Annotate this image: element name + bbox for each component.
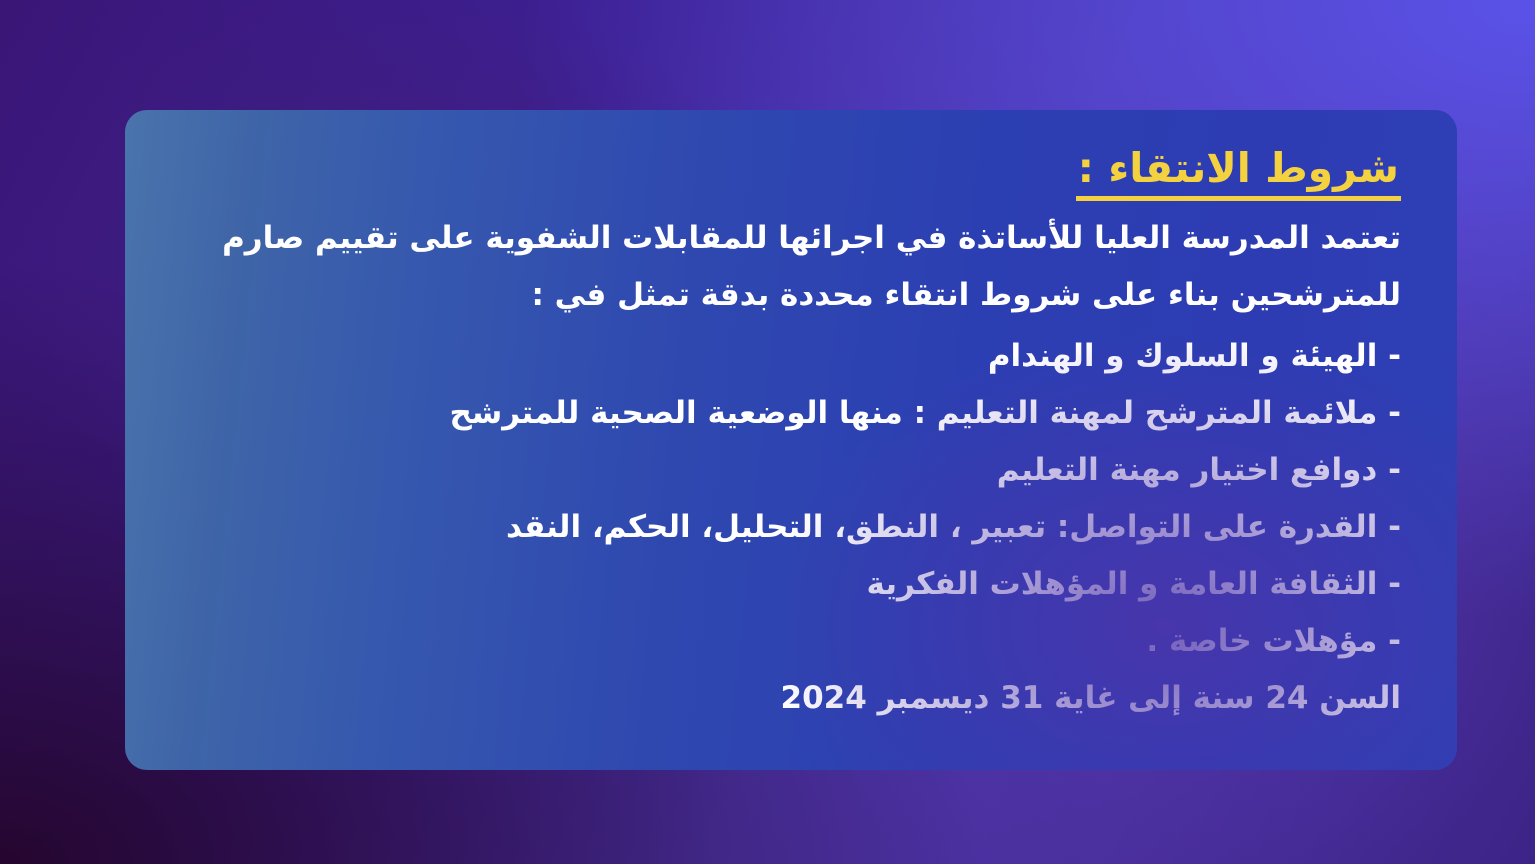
intro-paragraph: تعتمد المدرسة العليا للأساتذة في اجرائها… <box>182 210 1402 324</box>
list-item: - ملائمة المترشح لمهنة التعليم : منها ال… <box>182 385 1402 442</box>
list-item: - الهيئة و السلوك و الهندام <box>182 328 1402 385</box>
criteria-list: - الهيئة و السلوك و الهندام - ملائمة الم… <box>182 328 1402 670</box>
card-content: شروط الانتقاء : تعتمد المدرسة العليا للأ… <box>182 144 1402 727</box>
list-item: - دوافع اختيار مهنة التعليم <box>182 442 1402 499</box>
page-title-text: شروط الانتقاء : <box>1077 144 1402 201</box>
slide-canvas: شروط الانتقاء : تعتمد المدرسة العليا للأ… <box>0 0 1536 864</box>
list-item: - الثقافة العامة و المؤهلات الفكرية <box>182 556 1402 613</box>
list-item: - القدرة على التواصل: تعبير ، النطق، الت… <box>182 499 1402 556</box>
content-card: شروط الانتقاء : تعتمد المدرسة العليا للأ… <box>126 110 1458 770</box>
age-requirement-note: السن 24 سنة إلى غاية 31 ديسمبر 2024 <box>182 670 1402 727</box>
page-title: شروط الانتقاء : <box>182 144 1402 204</box>
list-item: - مؤهلات خاصة . <box>182 613 1402 670</box>
